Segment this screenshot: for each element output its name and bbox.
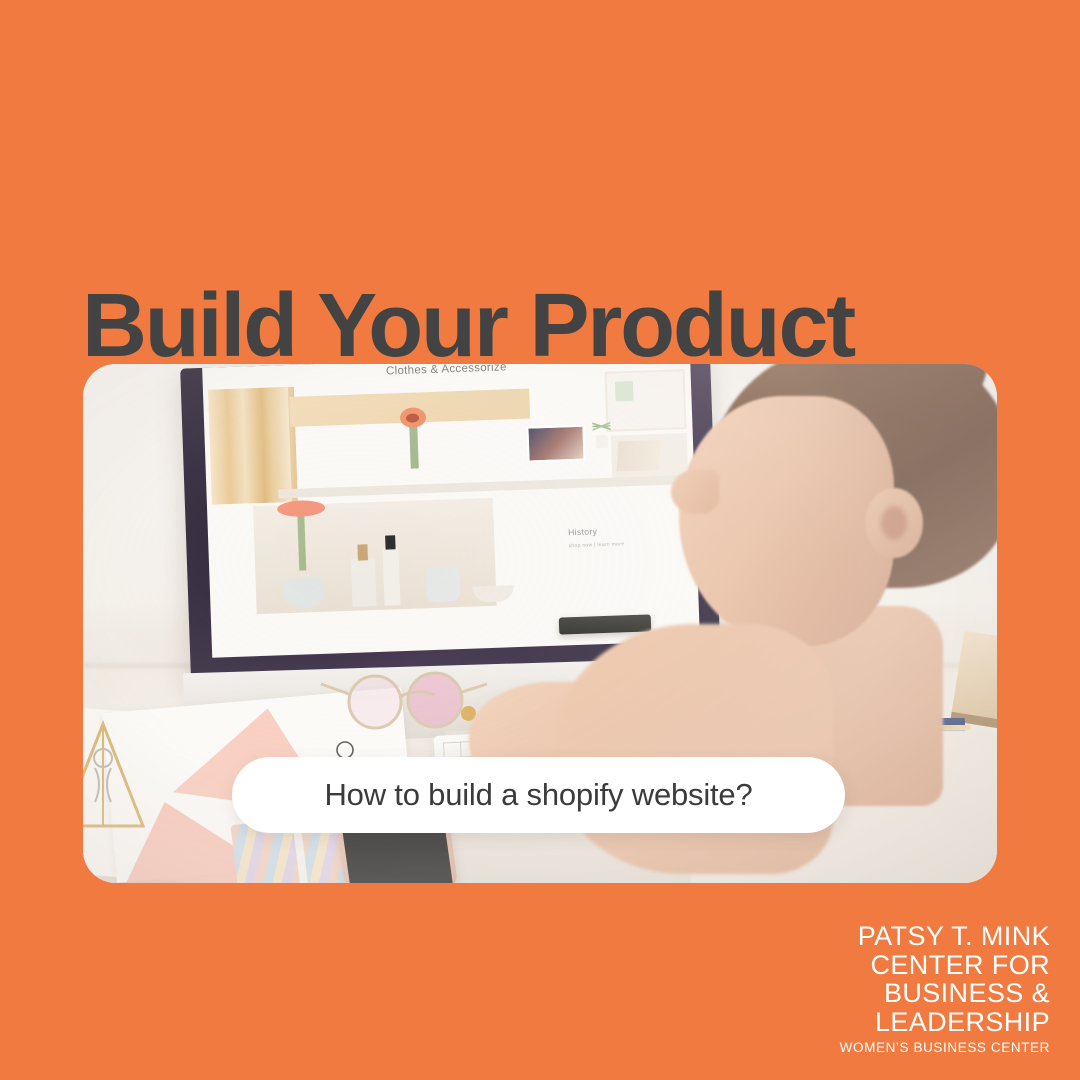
section-label: History bbox=[568, 526, 598, 537]
logo-line-1: PATSY T. MINK bbox=[840, 922, 1050, 951]
logo-tagline: WOMEN’S BUSINESS CENTER bbox=[840, 1038, 1050, 1058]
shelf-ledge bbox=[278, 475, 698, 499]
poster-canvas: Build Your Product Based Website Clothes… bbox=[0, 0, 1080, 1080]
gold-jewelry-stand bbox=[83, 718, 151, 838]
woman-face bbox=[679, 396, 894, 646]
sunglasses bbox=[319, 664, 489, 730]
small-plant-icon bbox=[590, 416, 613, 449]
flower-stem-lower bbox=[297, 512, 306, 570]
ceramic-bowl bbox=[472, 585, 515, 602]
woman-nose bbox=[671, 470, 719, 514]
woman-ear bbox=[865, 488, 923, 558]
logo-line-2: CENTER FOR bbox=[840, 951, 1050, 980]
search-query-pill[interactable]: How to build a shopify website? bbox=[232, 757, 845, 833]
glass-vase bbox=[284, 578, 325, 609]
headline-line-1: Build Your Product bbox=[82, 280, 982, 372]
logo-line-3: BUSINESS & bbox=[840, 979, 1050, 1008]
curtain-photo bbox=[208, 387, 298, 505]
product-thumbnail bbox=[526, 425, 585, 463]
monitor-screen: Clothes & Accessorize bbox=[202, 364, 700, 658]
flower-stem-upper bbox=[409, 422, 419, 468]
search-query-text: How to build a shopify website? bbox=[324, 777, 752, 813]
woman-arm bbox=[553, 624, 833, 874]
perfume-bottle-a bbox=[351, 558, 377, 607]
logo-line-4: LEADERSHIP bbox=[840, 1008, 1050, 1037]
section-sublabel: shop now | learn more bbox=[568, 541, 624, 549]
lower-product-photo bbox=[253, 498, 497, 614]
organization-logo: PATSY T. MINK CENTER FOR BUSINESS & LEAD… bbox=[840, 922, 1050, 1058]
glass-tumbler bbox=[425, 567, 460, 602]
spray-bottle bbox=[383, 547, 401, 606]
